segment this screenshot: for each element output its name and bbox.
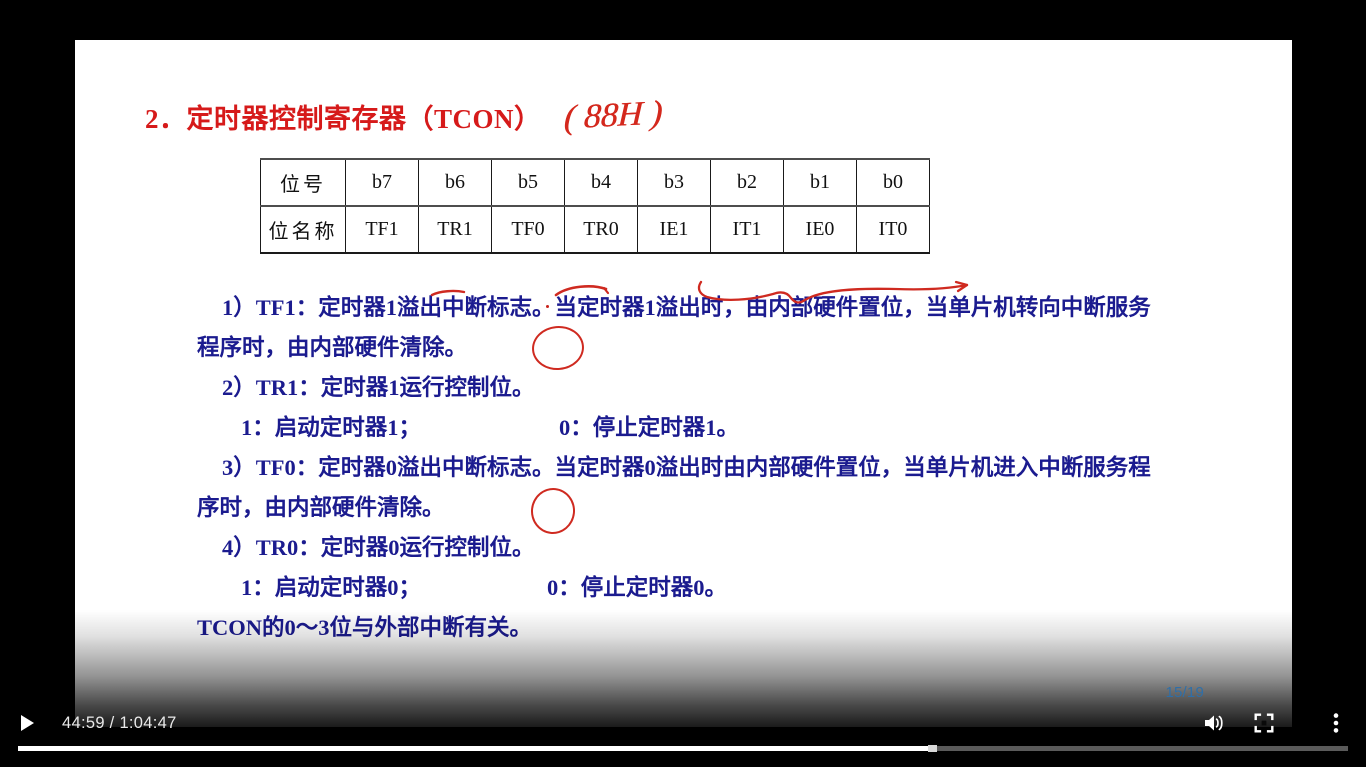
bit-number-cell: b4	[565, 159, 638, 206]
bit-name-cell: IE1	[638, 206, 711, 253]
row-header-bit-number: 位号	[261, 159, 346, 206]
three-dots-vertical-icon	[1333, 712, 1339, 734]
bit-set-description: 1：启动定时器0；	[241, 575, 421, 600]
bit-number-cell: b1	[784, 159, 857, 206]
bit-name-cell: IT1	[711, 206, 784, 253]
body-summary-line: TCON的0～3位与外部中断有关。	[193, 608, 1223, 648]
body-line: 1）TF1：定时器1溢出中断标志。当定时器1溢出时，由内部硬件置位，当单片机转向…	[193, 288, 1223, 328]
slide-canvas: 2．定时器控制寄存器（TCON） ( 88H ) 位号 b7 b6 b5 b4 …	[75, 40, 1292, 727]
seek-progress-played	[18, 746, 932, 751]
body-line: 程序时，由内部硬件清除。	[193, 328, 1223, 368]
player-controls-bar: 44:59 / 1:04:47	[0, 703, 1366, 743]
volume-button[interactable]	[1198, 707, 1230, 739]
table-row: 位名称 TF1 TR1 TF0 TR0 IE1 IT1 IE0 IT0	[261, 206, 930, 253]
body-line: 3）TF0：定时器0溢出中断标志。当定时器0溢出时由内部硬件置位，当单片机进入中…	[193, 448, 1223, 488]
body-line: 4）TR0：定时器0运行控制位。	[193, 528, 1223, 568]
expand-arrows-icon	[1254, 713, 1274, 733]
seek-track[interactable]	[18, 746, 1348, 751]
body-line: 2）TR1：定时器1运行控制位。	[193, 368, 1223, 408]
slide-title-row: 2．定时器控制寄存器（TCON） ( 88H )	[145, 97, 662, 136]
bit-clear-description: 0：停止定时器1。	[559, 415, 739, 440]
bit-number-cell: b0	[857, 159, 930, 206]
slide-page-counter: 15/19	[1165, 684, 1204, 701]
bit-name-cell: TF1	[346, 206, 419, 253]
bit-name-cell: TF0	[492, 206, 565, 253]
bit-number-cell: b6	[419, 159, 492, 206]
bit-number-cell: b7	[346, 159, 419, 206]
bit-name-cell: IE0	[784, 206, 857, 253]
row-header-bit-name: 位名称	[261, 206, 346, 253]
seek-bar[interactable]	[18, 743, 1348, 753]
time-display: 44:59 / 1:04:47	[62, 714, 177, 733]
volume-on-icon	[1203, 713, 1225, 733]
fullscreen-button[interactable]	[1248, 707, 1280, 739]
bit-number-cell: b3	[638, 159, 711, 206]
bit-clear-description: 0：停止定时器0。	[547, 575, 727, 600]
table-row: 位号 b7 b6 b5 b4 b3 b2 b1 b0	[261, 159, 930, 206]
play-triangle-icon	[21, 715, 34, 731]
bit-number-cell: b2	[711, 159, 784, 206]
bit-name-cell: TR0	[565, 206, 638, 253]
page-title: 2．定时器控制寄存器（TCON）	[145, 97, 542, 136]
player-controls-right-group	[1198, 707, 1358, 739]
bit-number-cell: b5	[492, 159, 565, 206]
slide-body-text: 1）TF1：定时器1溢出中断标志。当定时器1溢出时，由内部硬件置位，当单片机转向…	[193, 288, 1223, 648]
bit-name-cell: TR1	[419, 206, 492, 253]
play-button[interactable]	[10, 706, 44, 740]
body-line: 1：启动定时器0；0：停止定时器0。	[193, 568, 1223, 608]
bit-set-description: 1：启动定时器1；	[241, 415, 421, 440]
body-line: 序时，由内部硬件清除。	[193, 488, 1223, 528]
bit-name-cell: IT0	[857, 206, 930, 253]
more-options-button[interactable]	[1320, 707, 1352, 739]
video-player: 2．定时器控制寄存器（TCON） ( 88H ) 位号 b7 b6 b5 b4 …	[0, 0, 1366, 767]
seek-handle[interactable]	[928, 745, 937, 752]
handwritten-address-annotation: ( 88H )	[563, 94, 663, 137]
body-line: 1：启动定时器1；0：停止定时器1。	[193, 408, 1223, 448]
tcon-bit-table: 位号 b7 b6 b5 b4 b3 b2 b1 b0 位名称 TF1 TR1 T…	[260, 158, 930, 254]
